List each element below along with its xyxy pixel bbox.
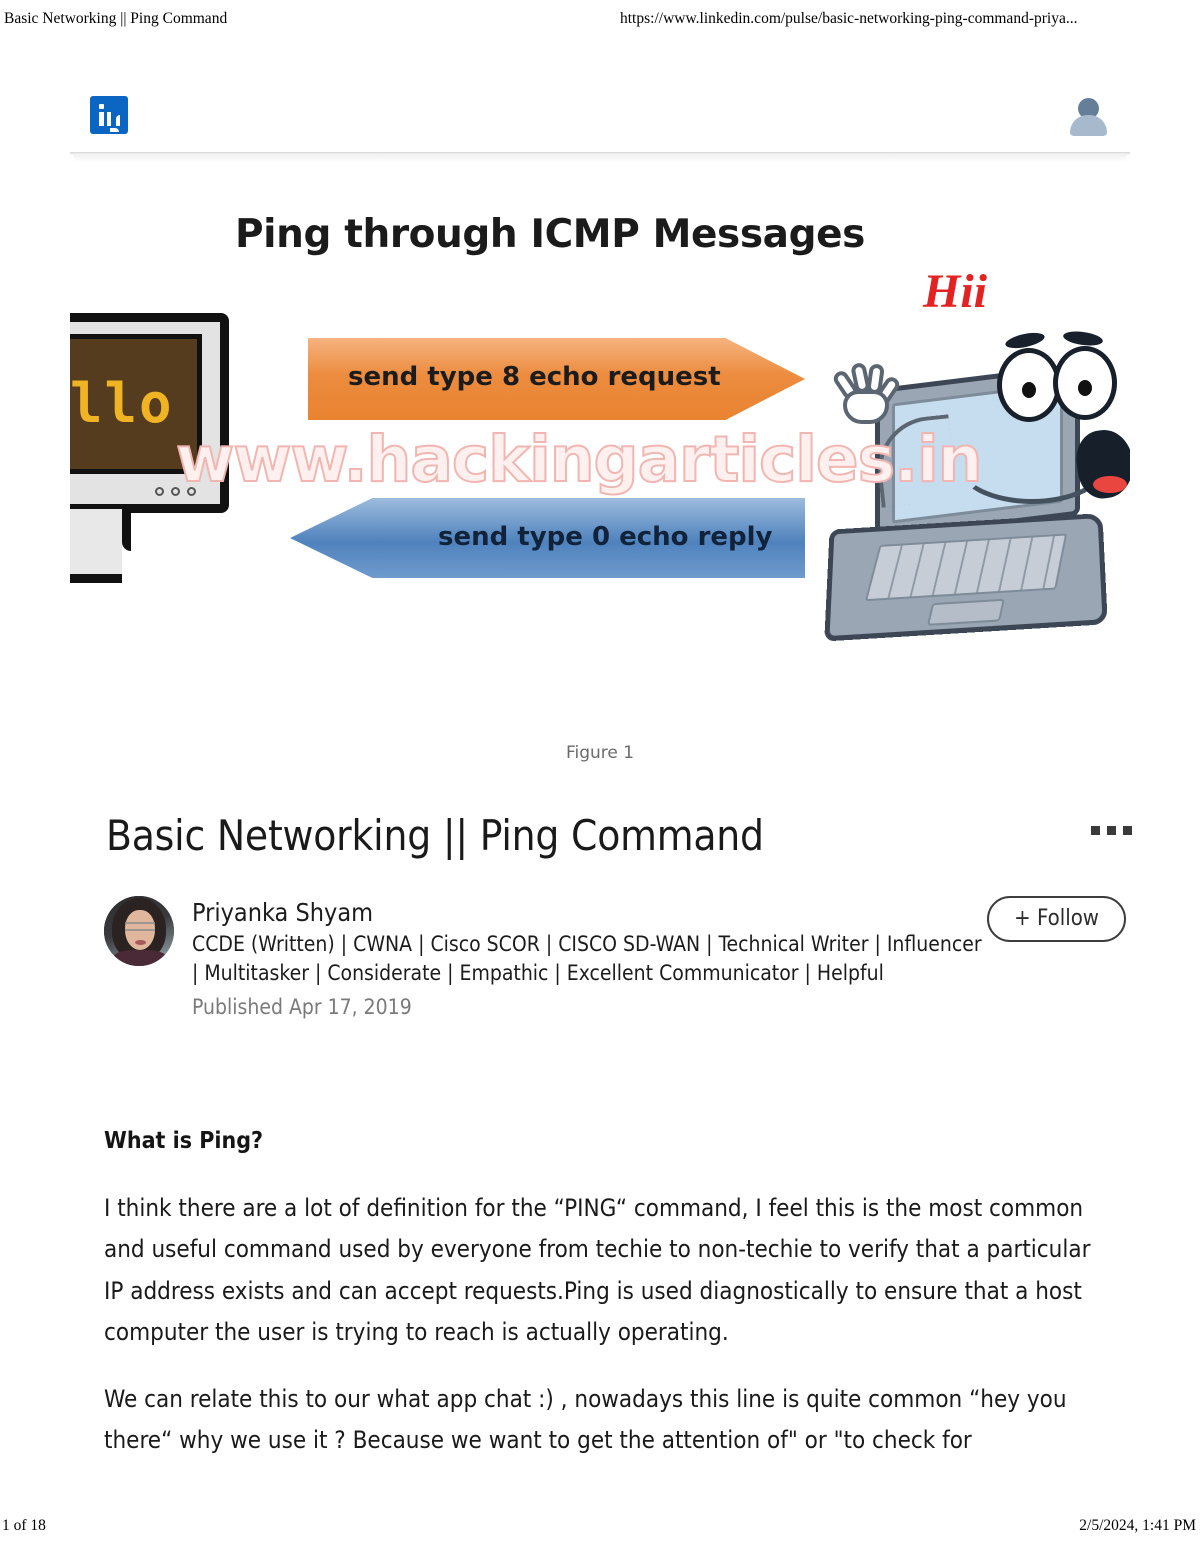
watermark-text: www.hackingarticles.in	[176, 423, 982, 496]
author-byline: Priyanka Shyam CCDE (Written) | CWNA | C…	[104, 896, 1104, 1021]
print-footer: 1 of 18 2/5/2024, 1:41 PM	[0, 1517, 1200, 1539]
print-header: Basic Networking || Ping Command https:/…	[0, 6, 1200, 32]
avatar[interactable]	[104, 896, 174, 966]
article-paragraph: I think there are a lot of definition fo…	[104, 1188, 1104, 1353]
laptop-eye-right	[1053, 346, 1117, 420]
article-body: What is Ping? I think there are a lot of…	[104, 1128, 1104, 1488]
echo-reply-arrow: send type 0 echo reply	[290, 498, 805, 578]
monitor-screen-text: llo	[70, 377, 174, 431]
page-root: Basic Networking || Ping Command https:/…	[0, 0, 1200, 1553]
linkedin-topbar	[70, 78, 1130, 152]
more-options-icon[interactable]	[1091, 826, 1132, 835]
author-headline: CCDE (Written) | CWNA | Cisco SCOR | CIS…	[192, 930, 982, 987]
figure-caption: Figure 1	[0, 743, 1200, 763]
echo-request-arrow-label: send type 8 echo request	[348, 362, 721, 392]
follow-button[interactable]: + Follow	[987, 896, 1126, 942]
page-number: 1 of 18	[2, 1517, 46, 1535]
greeting-text: Hii	[923, 264, 987, 319]
waving-hand-icon	[833, 364, 901, 426]
hero-illustration: Ping through ICMP Messages llo send type…	[70, 180, 1130, 680]
laptop-eyebrow-right	[1062, 329, 1103, 347]
print-timestamp: 2/5/2024, 1:41 PM	[1079, 1517, 1196, 1535]
section-heading: What is Ping?	[104, 1128, 1104, 1154]
echo-reply-arrow-label: send type 0 echo reply	[438, 522, 773, 552]
page-title: Basic Networking || Ping Command	[106, 812, 986, 860]
user-avatar-icon[interactable]	[1066, 94, 1112, 136]
hero-title: Ping through ICMP Messages	[235, 212, 865, 257]
laptop-tongue	[1093, 476, 1127, 493]
linkedin-logo-icon[interactable]	[90, 96, 128, 134]
laptop-eye-left	[997, 348, 1061, 422]
print-header-title: Basic Networking || Ping Command	[4, 10, 227, 28]
laptop-base	[824, 513, 1108, 641]
echo-request-arrow: send type 8 echo request	[308, 338, 805, 420]
author-name[interactable]: Priyanka Shyam	[192, 897, 1104, 928]
published-date: Published Apr 17, 2019	[192, 994, 1104, 1021]
print-header-url: https://www.linkedin.com/pulse/basic-net…	[620, 10, 1077, 28]
article-paragraph: We can relate this to our what app chat …	[104, 1379, 1104, 1462]
topbar-divider	[70, 152, 1130, 155]
